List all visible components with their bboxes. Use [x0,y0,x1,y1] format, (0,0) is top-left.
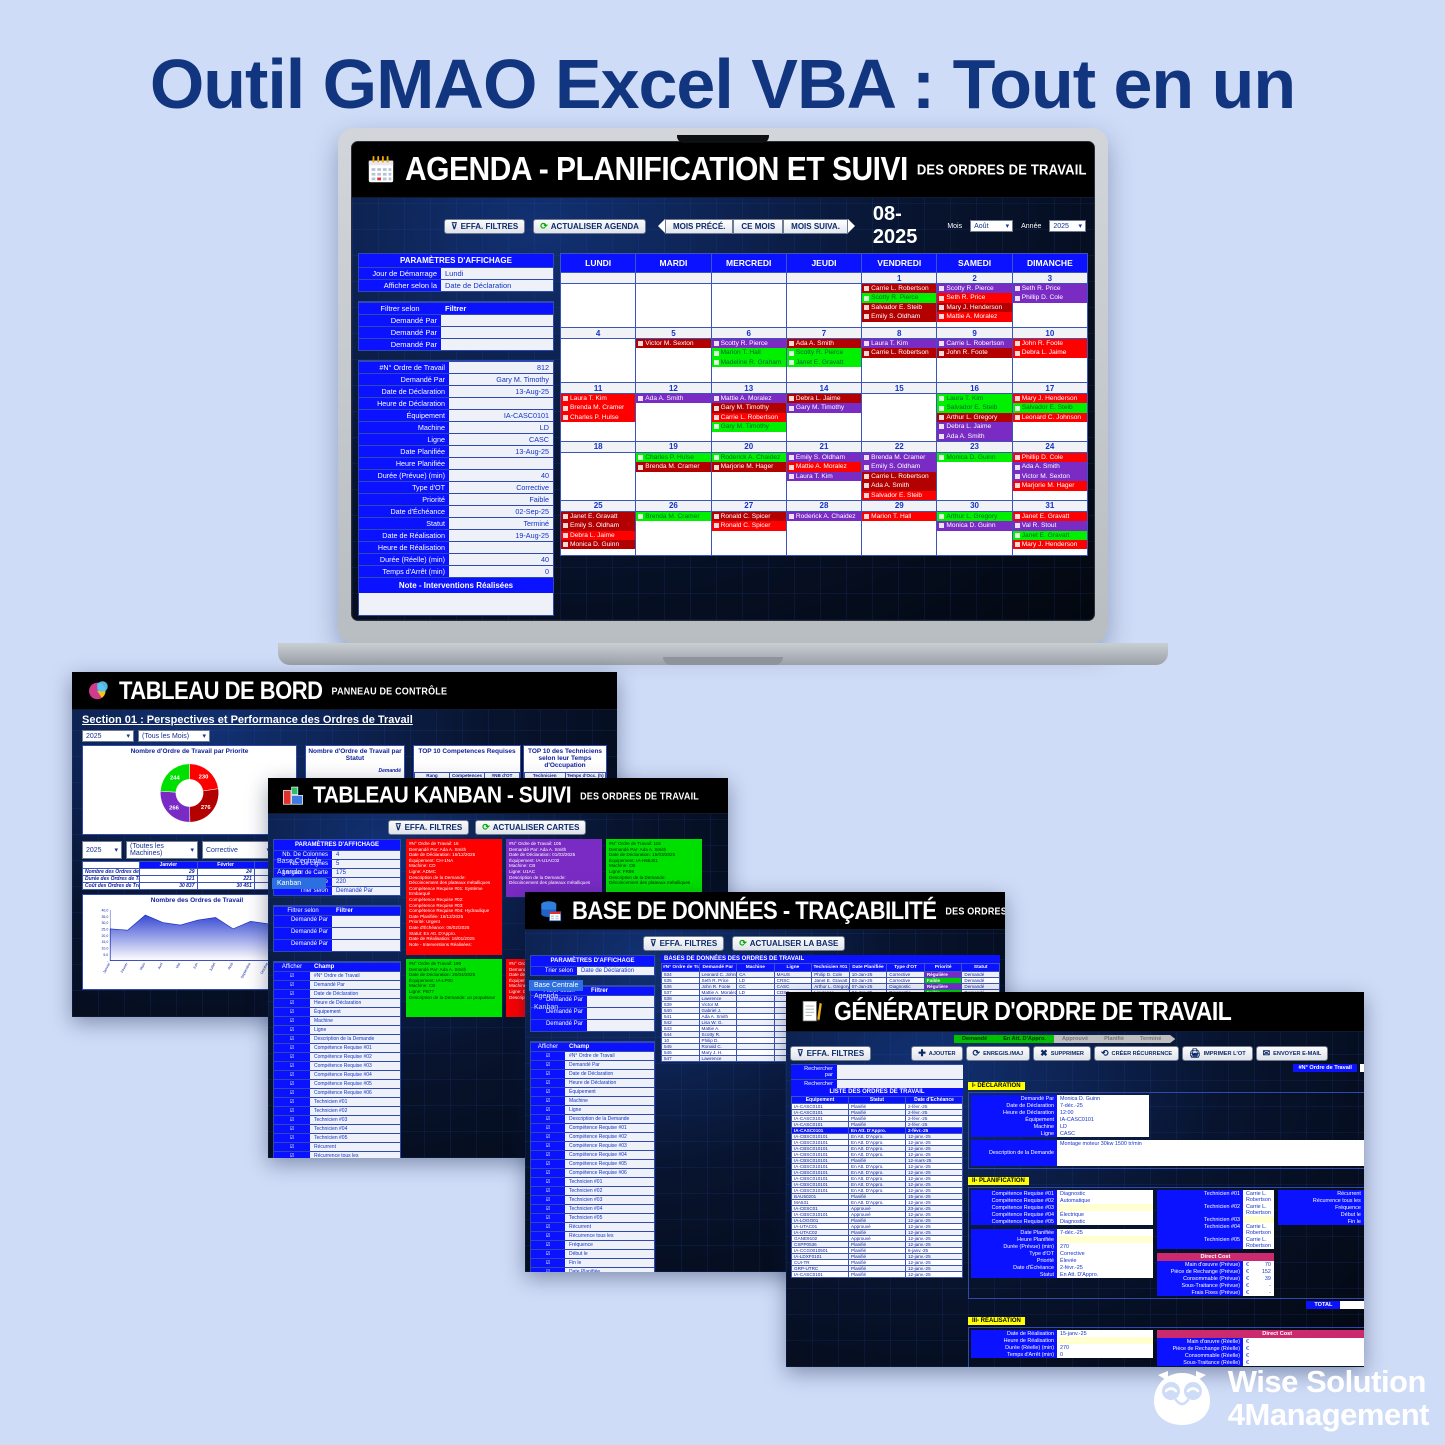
calendar-event[interactable]: Salvador E. Steib [862,303,936,312]
form-value[interactable]: 0 [1057,1351,1153,1358]
calendar-event[interactable]: Emily S. Oldham [862,462,936,471]
form-row[interactable]: Heure Planifiée [971,1236,1153,1243]
field-row[interactable]: ☑Compétence Requise #02 [274,1052,400,1061]
calendar-event[interactable]: Debra L. Jaime [1013,348,1087,357]
calendar-event[interactable]: Roderick A. Chaidez [787,512,861,521]
param-value[interactable] [449,541,553,553]
pipeline-stage[interactable]: Approuvé [1054,1035,1096,1043]
param-row[interactable]: Heure de Déclaration [359,397,553,409]
field-checkbox[interactable]: ☑ [531,1051,565,1060]
filter-value[interactable] [587,1019,654,1031]
calendar-event[interactable]: Ada A. Smith [862,481,936,490]
field-checkbox[interactable]: ☑ [274,1052,310,1061]
sidebar-item-kanban[interactable]: Kanban [529,1002,583,1013]
field-row[interactable]: ☑Équipement [531,1087,654,1096]
calendar-event[interactable]: Gary M. Timothy [712,403,786,412]
sidebar-item-base-centrale[interactable]: Base Centrale [272,856,326,867]
calendar-event[interactable]: Mary J. Henderson [1013,394,1087,403]
filter-value[interactable] [332,915,400,927]
form-row[interactable]: Récurrence tous les1 [1278,1197,1364,1204]
calendar-event[interactable]: Debra L. Jaime [561,531,635,540]
field-checkbox[interactable]: ☑ [531,1060,565,1069]
field-checkbox[interactable]: ☑ [531,1168,565,1177]
calendar-event[interactable]: Debra L. Jaime [787,394,861,403]
field-checkbox[interactable]: ☑ [274,1025,310,1034]
calendar-event[interactable]: Arthur L. Gregory [937,413,1011,422]
param-row[interactable]: Demandé Par [359,326,553,338]
param-value[interactable] [449,457,553,469]
form-value[interactable] [1057,1236,1153,1243]
calendar-event[interactable]: Victor M. Sexton [636,339,710,348]
form-row[interactable]: Date Planifiée7-déc.-25 [971,1229,1153,1236]
form-value[interactable] [1057,1337,1153,1344]
calendar-event[interactable]: Gary M. Timothy [712,422,786,431]
field-checkbox[interactable]: ☑ [531,1213,565,1222]
filter-row[interactable]: Demandé Par [531,1019,654,1031]
form-row[interactable]: Fin le31-déc.-25 [1278,1218,1364,1225]
field-checkbox[interactable]: ☑ [531,1114,565,1123]
form-row[interactable]: FréquenceSemaine(s) [1278,1204,1364,1211]
cost-value[interactable]: €152 [1243,1268,1274,1275]
form-value[interactable]: Diagnostic [1057,1218,1153,1225]
day-cell[interactable]: Roderick A. Chaidez [786,511,861,555]
param-value[interactable]: Faible [449,493,553,505]
form-row[interactable]: Début le1-déc.-25 [1278,1211,1364,1218]
ot-list-table[interactable]: ÉquipementStatutDate d'ÉchéanceIA-CASC01… [791,1096,963,1278]
field-checkbox[interactable]: ☑ [531,1105,565,1114]
ot-number-value[interactable]: 1014 [1360,1064,1364,1072]
calendar-event[interactable]: Scotty R. Pierce [862,293,936,302]
param-value[interactable]: LD [449,421,553,433]
field-row[interactable]: ☑Technicien #03 [531,1195,654,1204]
day-cell[interactable]: Scotty R. Pierce Marion T. Hall Madeline… [711,339,786,383]
day-cell[interactable]: Ada A. Smith Scotty R. Pierce Janet E. G… [786,339,861,383]
action-button-cr-er-r-currence[interactable]: ⟲CRÉER RÉCURRENCE [1094,1046,1179,1061]
field-row[interactable]: ☑Technicien #01 [531,1177,654,1186]
form-row[interactable]: Compétence Requise #04Électrique [971,1211,1153,1218]
field-row[interactable]: ☑Heure de Déclaration [274,998,400,1007]
calendar-event[interactable]: Emily S. Oldham [862,312,936,321]
field-checkbox[interactable]: ☑ [274,1088,310,1097]
cost-value[interactable]: €39 [1243,1352,1364,1359]
field-checkbox[interactable]: ☑ [274,971,310,980]
filter-row[interactable]: Demandé Par [274,915,400,927]
param-row[interactable]: Demandé Par [359,314,553,326]
calendar-event[interactable]: Ada A. Smith [937,432,1011,441]
form-value[interactable]: LD [1057,1123,1149,1130]
action-button-enregis-maj[interactable]: ⟳ENREGIS./MAJ [966,1046,1031,1061]
field-checkbox[interactable]: ☑ [531,1087,565,1096]
day-cell[interactable]: Roderick A. Chaidez Marjorie M. Hager [711,452,786,500]
calendar-event[interactable]: Mattie A. Moralez [712,394,786,403]
field-row[interactable]: ☑Ligne [274,1025,400,1034]
pipeline-stage[interactable]: Demandé [954,1035,995,1043]
field-row[interactable]: ☑Début le [531,1249,654,1258]
form-value[interactable]: Élevée [1057,1257,1153,1264]
monthly-year-select[interactable]: 2025▾ [82,841,122,859]
calendar-event[interactable]: Ada A. Smith [787,339,861,348]
calendar-event[interactable]: Salvador E. Steib [937,403,1011,412]
pipeline-stage[interactable]: Planifié [1096,1035,1132,1043]
form-value[interactable]: 270 [1057,1344,1153,1351]
param-row[interactable]: Type d'OT Corrective [359,481,553,493]
calendar-event[interactable]: Ronald C. Spicer [712,512,786,521]
field-row[interactable]: ☑Technicien #01 [274,1097,400,1106]
sidebar-item-base-centrale[interactable]: Base Centrale [529,980,583,991]
param-value[interactable]: 0 [449,565,553,577]
field-checkbox[interactable]: ☑ [531,1186,565,1195]
kanban-card[interactable]: #N° Ordre de Travail: 115Demandé Par: Ad… [606,839,702,897]
field-row[interactable]: ☑Technicien #05 [531,1213,654,1222]
calendar-event[interactable]: Victor M. Sexton [1013,472,1087,481]
calendar-event[interactable]: Brenda M. Cramer [636,512,710,521]
field-row[interactable]: ☑#N° Ordre de Travail [274,971,400,980]
this-month-button[interactable]: CE MOIS [733,219,783,234]
day-cell[interactable]: Charles P. Hulse Brenda M. Cramer [636,452,711,500]
form-row[interactable]: Date de Réalisation15-janv.-25 [971,1330,1153,1337]
param-row[interactable]: Demandé Par Gary M. Timothy [359,373,553,385]
field-checkbox[interactable]: ☑ [274,1043,310,1052]
field-checkbox[interactable]: ☑ [531,1150,565,1159]
form-value[interactable]: En Att. D'Appro. [1057,1271,1153,1278]
field-checkbox[interactable]: ☑ [531,1141,565,1150]
calendar-event[interactable]: Janet E. Gravatt [1013,531,1087,540]
form-value[interactable]: IA-CASC0101 [1057,1116,1149,1123]
calendar-event[interactable]: Ada A. Smith [636,394,710,403]
calendar-event[interactable]: Monica D. Guinn [937,453,1011,462]
param-row[interactable]: Machine LD [359,421,553,433]
day-cell[interactable]: John R. Foote Debra L. Jaime [1012,339,1087,383]
calendar-event[interactable]: Brenda M. Cramer [561,403,635,412]
field-row[interactable]: ☑Demandé Par [274,980,400,989]
cost-value[interactable]: €- [1243,1289,1274,1296]
prev-month-button[interactable]: MOIS PRÉCÉ. [665,219,733,234]
field-row[interactable]: ☑Compétence Requise #06 [531,1168,654,1177]
form-row[interactable]: Technicien #01Carrie L. Robertson [1157,1190,1274,1203]
form-row[interactable]: ÉquipementIA-CASC0101 [971,1116,1149,1123]
day-cell[interactable] [561,284,636,328]
param-row[interactable]: Jour de Démarrage Lundi [359,267,553,279]
form-row[interactable]: StatutEn Att. D'Appro. [971,1271,1153,1278]
field-checkbox[interactable]: ☑ [274,1124,310,1133]
day-cell[interactable]: Janet E. Gravatt Emily S. Oldham Debra L… [561,511,636,555]
field-checkbox[interactable]: ☑ [531,1231,565,1240]
form-value[interactable]: 270 [1057,1243,1153,1250]
field-row[interactable]: ☑Compétence Requise #06 [274,1088,400,1097]
form-value[interactable]: 7-déc.-25 [1057,1102,1149,1109]
field-row[interactable]: ☑Demandé Par [531,1060,654,1069]
field-checkbox[interactable]: ☑ [531,1249,565,1258]
field-checkbox[interactable]: ☑ [274,1106,310,1115]
day-cell[interactable]: Seth R. Price Phillip D. Cole [1012,284,1087,328]
calendar-event[interactable]: Ronald C. Spicer [712,521,786,530]
kanban-card[interactable]: #N° Ordre de Travail: 190Demandé Par: Ad… [406,959,502,1017]
param-row[interactable]: Afficher selon la Date de Déclaration [359,279,553,291]
field-row[interactable]: ☑Compétence Requise #01 [531,1123,654,1132]
param-row[interactable]: Ligne CASC [359,433,553,445]
form-row[interactable]: Technicien #02Carrie L. Robertson [1157,1203,1274,1216]
param-row[interactable]: Priorité Faible [359,493,553,505]
month-select[interactable]: Août ▾ [970,220,1013,232]
day-cell[interactable]: Mattie A. Moralez Gary M. Timothy Carrie… [711,394,786,442]
calendar-event[interactable]: Mattie A. Moralez [787,462,861,471]
form-value[interactable]: 2-févr.-25 [1057,1264,1153,1271]
calendar-event[interactable]: Charles P. Hulse [636,453,710,462]
field-row[interactable]: ☑Heure de Déclaration [531,1078,654,1087]
calendar-event[interactable]: Emily S. Oldham [561,521,635,530]
field-checkbox[interactable]: ☑ [274,1070,310,1079]
year-select[interactable]: 2025 ▾ [1049,220,1086,232]
form-value[interactable]: 15-janv.-25 [1057,1330,1153,1337]
field-row[interactable]: ☑Fréquence [531,1240,654,1249]
param-value[interactable] [441,314,553,326]
list-item[interactable]: IA-CASC0101Planifié12-janv.-25 [792,1272,963,1278]
field-checkbox[interactable]: ☑ [531,1195,565,1204]
param-value[interactable]: 40 [449,469,553,481]
calendar-event[interactable]: Scotty R. Pierce [787,348,861,357]
param-value[interactable]: 40 [449,553,553,565]
field-row[interactable]: ☑Technicien #04 [531,1204,654,1213]
calendar-event[interactable]: Janet E. Gravatt [1013,512,1087,521]
day-cell[interactable] [786,284,861,328]
field-row[interactable]: ☑Compétence Requise #05 [274,1079,400,1088]
param-row[interactable]: Demandé Par [359,338,553,350]
form-value[interactable]: Diagnostic [1057,1190,1153,1197]
day-cell[interactable]: Victor M. Sexton [636,339,711,383]
sidebar-item-agenda[interactable]: Agenda [529,991,583,1002]
monthly-machine-select[interactable]: (Toutes les Machines)▾ [126,841,198,859]
cost-value[interactable]: €70 [1243,1338,1364,1345]
database-sidebar[interactable]: Base Centrale Agenda Kanban [529,980,583,1013]
field-row[interactable]: ☑Compétence Requise #05 [531,1159,654,1168]
day-cell[interactable]: Laura T. Kim Carrie L. Robertson [862,339,937,383]
field-row[interactable]: ☑Technicien #04 [274,1124,400,1133]
field-checkbox[interactable]: ☑ [531,1069,565,1078]
form-row[interactable]: Durée (Prévue) (min)270 [971,1243,1153,1250]
calendar-event[interactable]: Carrie L. Robertson [712,413,786,422]
generator-panel[interactable]: GÉNÉRATEUR D'ORDRE DE TRAVAIL DemandéEn … [786,992,1364,1367]
form-value[interactable]: 7-déc.-25 [1057,1229,1153,1236]
day-cell[interactable] [561,339,636,383]
action-button-envoyer-e-mail[interactable]: ✉ENVOYER E-MAIL [1256,1046,1329,1061]
field-row[interactable]: ☑Récurrence tous les [274,1151,400,1158]
form-value[interactable] [1243,1216,1274,1223]
field-row[interactable]: ☑Compétence Requise #04 [531,1150,654,1159]
day-cell[interactable]: Emily S. Oldham Mattie A. Moralez Laura … [786,452,861,500]
param-row[interactable]: Date de Déclaration 13-Aug-25 [359,385,553,397]
field-row[interactable]: ☑Récurrence tous les [531,1231,654,1240]
calendar-event[interactable]: Phillip D. Cole [1013,453,1087,462]
form-value[interactable]: Carrie L. Robertson [1243,1190,1274,1203]
filter-row[interactable]: Demandé Par [274,939,400,951]
calendar-event[interactable]: Leonard C. Johnson [1013,413,1087,422]
calendar-event[interactable]: Janet E. Gravatt [787,358,861,367]
param-row[interactable]: #N° Ordre de Travail 812 [359,361,553,373]
field-checkbox[interactable]: ☑ [274,1007,310,1016]
calendar-event[interactable]: Salvador E. Steib [862,491,936,500]
clear-filters-button[interactable]: ⊽ EFFA. FILTRES [643,936,724,951]
calendar-event[interactable]: John R. Foote [1013,339,1087,348]
field-checkbox[interactable]: ☑ [531,1222,565,1231]
form-row[interactable]: Heure de Réalisation [971,1337,1153,1344]
form-row[interactable]: Durée (Réelle) (min)270 [971,1344,1153,1351]
pipeline-stage[interactable]: Terminé [1132,1035,1175,1043]
param-value[interactable]: 19-Aug-25 [449,529,553,541]
calendar-event[interactable]: Laura T. Kim [561,394,635,403]
field-checkbox[interactable]: ☑ [531,1132,565,1141]
field-row[interactable]: ☑Compétence Requise #03 [531,1141,654,1150]
field-checkbox[interactable]: ☑ [274,1061,310,1070]
param-value[interactable]: Date de Déclaration [441,279,553,291]
param-value[interactable]: Corrective [449,481,553,493]
field-row[interactable]: ☑Machine [274,1016,400,1025]
form-row[interactable]: Compétence Requise #01Diagnostic [971,1190,1153,1197]
calendar-event[interactable]: Monica D. Guinn [561,540,635,549]
field-checkbox[interactable]: ☑ [274,1016,310,1025]
day-cell[interactable]: Debra L. Jaime Gary M. Timothy [786,394,861,442]
calendar-event[interactable]: Carrie L. Robertson [862,472,936,481]
calendar-event[interactable]: Val R. Stout [1013,521,1087,530]
form-row[interactable]: LigneCASC [971,1130,1149,1137]
day-cell[interactable]: Marion T. Hall [862,511,937,555]
monthly-type-select[interactable]: Corrective▾ [202,841,274,859]
day-cell[interactable]: Janet E. Gravatt Val R. Stout Janet E. G… [1012,511,1087,555]
filter-row[interactable]: Demandé Par [274,927,400,939]
field-row[interactable]: ☑Compétence Requise #04 [274,1070,400,1079]
param-row[interactable]: Heure Planifiée [359,457,553,469]
field-row[interactable]: ☑Compétence Requise #03 [274,1061,400,1070]
field-checkbox[interactable]: ☑ [274,980,310,989]
field-row[interactable]: ☑Compétence Requise #01 [274,1043,400,1052]
calendar-event[interactable]: Debra L. Jaime [937,422,1011,431]
field-row[interactable]: ☑#N° Ordre de Travail [531,1051,654,1060]
calendar-event[interactable]: Seth R. Price [1013,284,1087,293]
param-row[interactable]: Heure de Réalisation [359,541,553,553]
param-row[interactable]: Date de Réalisation 19-Aug-25 [359,529,553,541]
param-value[interactable]: Gary M. Timothy [449,373,553,385]
field-checkbox[interactable]: ☑ [274,1142,310,1151]
param-row[interactable]: Durée (Prévue) (min) 40 [359,469,553,481]
calendar-event[interactable]: Phillip D. Cole [1013,293,1087,302]
action-button-imprimer-l-ot[interactable]: 🖨IMPRIMER L'OT [1182,1046,1252,1061]
calendar-event[interactable]: Roderick A. Chaidez [712,453,786,462]
calendar-event[interactable]: Marion T. Hall [862,512,936,521]
kanban-card[interactable]: #N° Ordre de Travail: 16Demandé Par: Ada… [406,839,502,955]
day-cell[interactable]: Scotty R. Pierce Seth R. Price Mary J. H… [937,284,1012,328]
field-checkbox[interactable]: ☑ [274,1115,310,1124]
day-cell[interactable]: Laura T. Kim Salvador E. Steib Arthur L.… [937,394,1012,442]
form-row[interactable]: Compétence Requise #05Diagnostic [971,1218,1153,1225]
day-cell[interactable]: Carrie L. Robertson John R. Foote [937,339,1012,383]
param-value[interactable]: Demandé Par [332,886,400,895]
calendar-event[interactable]: Carrie L. Robertson [862,348,936,357]
filter-value[interactable] [587,995,654,1007]
calendar-event[interactable]: Janet E. Gravatt [561,512,635,521]
form-row[interactable]: Compétence Requise #03 [971,1204,1153,1211]
field-checkbox[interactable]: ☑ [274,989,310,998]
filter-value[interactable] [332,939,400,951]
form-row[interactable]: Heure de Déclaration12:00 [971,1109,1149,1116]
param-value[interactable] [441,338,553,350]
form-row[interactable]: Technicien #04Carrie L. Robertson [1157,1223,1274,1236]
field-checkbox[interactable]: ☑ [274,1097,310,1106]
param-value[interactable]: 4 [332,850,400,859]
calendar-event[interactable]: Brenda M. Cramer [636,462,710,471]
day-cell[interactable]: Laura T. Kim Brenda M. Cramer Charles P.… [561,394,636,442]
param-value[interactable]: 5 [332,859,400,868]
form-value[interactable]: 12:00 [1057,1109,1149,1116]
day-cell[interactable]: Phillip D. Cole Ada A. Smith Victor M. S… [1012,452,1087,500]
param-row[interactable]: Statut Terminé [359,517,553,529]
param-value[interactable] [449,397,553,409]
refresh-agenda-button[interactable]: ⟳ ACTUALISER AGENDA [533,219,646,234]
field-checkbox[interactable]: ☑ [531,1240,565,1249]
filter-value[interactable] [332,927,400,939]
note-body[interactable] [359,593,553,615]
field-row[interactable]: ☑Compétence Requise #02 [531,1132,654,1141]
param-value[interactable]: Terminé [449,517,553,529]
calendar-event[interactable]: Charles P. Hulse [561,413,635,422]
param-row[interactable]: Date d'Échéance 02-Sep-25 [359,505,553,517]
param-row[interactable]: Durée (Réelle) (min) 40 [359,553,553,565]
form-row[interactable]: Date de Déclaration7-déc.-25 [971,1102,1149,1109]
cost-value[interactable]: €70 [1243,1261,1274,1268]
form-value[interactable]: Automatique [1057,1197,1153,1204]
calendar-event[interactable]: Monica D. Guinn [937,521,1011,530]
param-value[interactable]: 812 [449,361,553,373]
day-cell[interactable] [711,284,786,328]
field-row[interactable]: ☑Technicien #03 [274,1115,400,1124]
form-row[interactable]: Temps d'Arrêt (min)0 [971,1351,1153,1358]
calendar-event[interactable]: Scotty R. Pierce [937,284,1011,293]
refresh-database-button[interactable]: ⟳ ACTUALISER LA BASE [732,936,845,951]
param-value[interactable] [441,326,553,338]
pipeline-stage[interactable]: En Att. D'Appro. [995,1035,1054,1043]
field-checkbox[interactable]: ☑ [274,1151,310,1158]
param-row[interactable]: Date Planifiée 13-Aug-25 [359,445,553,457]
calendar-event[interactable]: Gary M. Timothy [787,403,861,412]
field-checkbox[interactable]: ☑ [531,1204,565,1213]
param-row[interactable]: Équipement IA-CASC0101 [359,409,553,421]
day-cell[interactable] [636,284,711,328]
calendar-event[interactable]: Emily S. Oldham [787,453,861,462]
field-row[interactable]: ☑Description de la Demande [531,1114,654,1123]
calendar-event[interactable]: Mattie A. Moralez [937,312,1011,321]
day-cell[interactable]: Monica D. Guinn [937,452,1012,500]
field-row[interactable]: ☑Récurrent [274,1142,400,1151]
param-value[interactable]: 220 [332,877,400,886]
form-value[interactable]: Carrie L. Robertson [1243,1236,1274,1249]
field-row[interactable]: ☑Date Planifiée [531,1267,654,1272]
sort-row[interactable]: Trier selon Date de Déclaration [531,966,654,975]
form-row[interactable]: Technicien #03 [1157,1216,1274,1223]
field-row[interactable]: ☑Date de Déclaration [274,989,400,998]
field-checkbox[interactable]: ☑ [274,1133,310,1142]
day-cell[interactable]: Ronald C. Spicer Ronald C. Spicer [711,511,786,555]
cost-value[interactable]: €- [1243,1282,1274,1289]
day-cell[interactable]: Arthur L. Gregory Monica D. Guinn [937,511,1012,555]
calendar-event[interactable]: Madeline R. Graham [712,358,786,367]
form-value[interactable]: Électrique [1057,1211,1153,1218]
param-value[interactable]: IA-CASC0101 [449,409,553,421]
day-cell[interactable]: Carrie L. Robertson Scotty R. Pierce Sal… [862,284,937,328]
param-value[interactable]: 13-Aug-25 [449,385,553,397]
field-checkbox[interactable]: ☑ [274,1034,310,1043]
field-row[interactable]: ☑Fin le [531,1258,654,1267]
calendar-event[interactable]: Marion T. Hall [712,348,786,357]
day-cell[interactable]: Brenda M. Cramer [636,511,711,555]
clear-filters-button[interactable]: ⊽ EFFA. FILTRES [790,1046,871,1061]
